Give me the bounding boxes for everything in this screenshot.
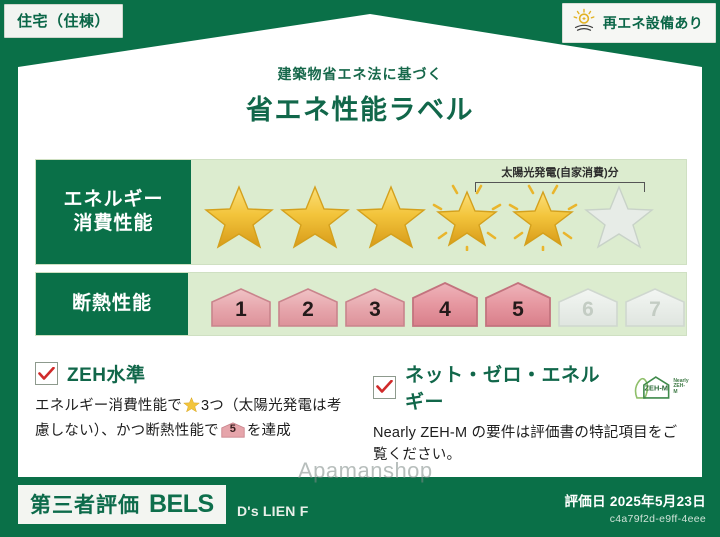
inline-star-icon (183, 396, 200, 420)
inline-house-badge: 5 (221, 421, 245, 439)
project-name: D's LIEN F (237, 503, 308, 519)
criteria-section: ZEH水準 エネルギー消費性能で3つ（太陽光発電は考慮しない）、かつ断熱性能で5… (35, 360, 690, 467)
check-icon (38, 367, 55, 381)
renewable-badge-label: 再エネ設備あり (603, 13, 703, 33)
energy-performance-label: 住宅（住棟） 再エネ設備あり 建築物省エ (0, 0, 720, 537)
star-filled (355, 181, 427, 251)
grade-house-7: 7 (624, 287, 686, 328)
insulation-grade-scale: 1 2 3 (188, 273, 686, 335)
grade-house-value: 5 (512, 298, 524, 328)
grade-house-6: 6 (557, 287, 619, 328)
zeh-standard-body: エネルギー消費性能で3つ（太陽光発電は考慮しない）、かつ断熱性能で5を達成 (35, 395, 351, 443)
star-empty (583, 181, 655, 251)
net-zero-header: ネット・ゼロ・エネルギー ZEH-M Nearly ZEH-M (373, 360, 689, 414)
bels-jp-label: 第三者評価 (30, 489, 140, 519)
zeh-body-part1: エネルギー消費性能で (35, 398, 182, 414)
zeh-m-logo: ZEH-M Nearly ZEH-M (632, 374, 689, 401)
energy-star-rating: 太陽光発電(自家消費)分 (191, 160, 686, 264)
net-zero-energy-block: ネット・ゼロ・エネルギー ZEH-M Nearly ZEH-M Nearly Z… (373, 360, 689, 467)
grade-house-4: 4 (411, 281, 479, 328)
grade-house-3: 3 (344, 287, 406, 328)
grade-house-value: 2 (302, 298, 314, 328)
zeh-m-sub-line2: ZEH-M (673, 384, 689, 395)
net-zero-checkbox[interactable] (373, 376, 396, 399)
star-filled (279, 181, 351, 251)
energy-performance-row: エネルギー 消費性能 太陽光発電(自家消費)分 (35, 159, 687, 265)
svg-text:ZEH-M: ZEH-M (644, 383, 667, 392)
zeh-standard-title: ZEH水準 (67, 360, 146, 387)
star-list (191, 181, 655, 251)
solar-annotation-label: 太陽光発電(自家消費)分 (470, 164, 650, 180)
grade-house-value: 4 (439, 298, 451, 328)
zeh-m-house-icon: ZEH-M (632, 374, 672, 401)
insulation-performance-label-key: 断熱性能 (36, 273, 188, 335)
energy-key-line1: エネルギー (63, 188, 163, 212)
grade-house-1: 1 (210, 287, 272, 328)
inline-house-value: 5 (221, 421, 245, 439)
evaluation-date: 評価日 2025年5月23日 (564, 490, 706, 510)
grade-house-2: 2 (277, 287, 339, 328)
grade-house-5: 5 (484, 281, 552, 328)
house-grade-list: 1 2 3 (188, 281, 686, 328)
star-filled (203, 181, 275, 251)
renewable-equipment-badge: 再エネ設備あり (562, 3, 716, 43)
bels-badge: 第三者評価 BELS (18, 485, 226, 524)
evaluation-id: c4a79f2d-e9ff-4eee (564, 513, 706, 525)
zeh-body-part3: を達成 (247, 423, 291, 439)
watermark: Apamanshop (298, 458, 433, 484)
insulation-performance-row: 断熱性能 1 (35, 272, 687, 336)
evaluation-info: 評価日 2025年5月23日 c4a79f2d-e9ff-4eee (564, 490, 706, 525)
energy-performance-label-key: エネルギー 消費性能 (36, 160, 191, 264)
energy-key-line2: 消費性能 (73, 212, 153, 236)
grade-house-value: 3 (369, 298, 381, 328)
zeh-standard-header: ZEH水準 (35, 360, 351, 387)
label-subtitle: 建築物省エネ法に基づく (0, 64, 720, 84)
building-type-badge: 住宅（住棟） (4, 4, 123, 38)
sun-icon (571, 8, 597, 37)
net-zero-title: ネット・ゼロ・エネルギー (405, 360, 619, 414)
label-title-block: 建築物省エネ法に基づく 省エネ性能ラベル (0, 64, 720, 127)
star-filled-solar (507, 181, 579, 251)
star-filled-solar (431, 181, 503, 251)
grade-house-value: 7 (649, 298, 661, 328)
page-title: 省エネ性能ラベル (0, 88, 720, 127)
grade-house-value: 1 (235, 298, 247, 328)
check-icon (376, 380, 393, 394)
grade-house-value: 6 (582, 298, 594, 328)
insulation-key-text: 断熱性能 (72, 292, 152, 316)
zeh-standard-block: ZEH水準 エネルギー消費性能で3つ（太陽光発電は考慮しない）、かつ断熱性能で5… (35, 360, 351, 467)
bels-en-label: BELS (149, 490, 214, 519)
zeh-standard-checkbox[interactable] (35, 362, 58, 385)
zeh-m-logo-sub: Nearly ZEH-M (673, 379, 689, 395)
